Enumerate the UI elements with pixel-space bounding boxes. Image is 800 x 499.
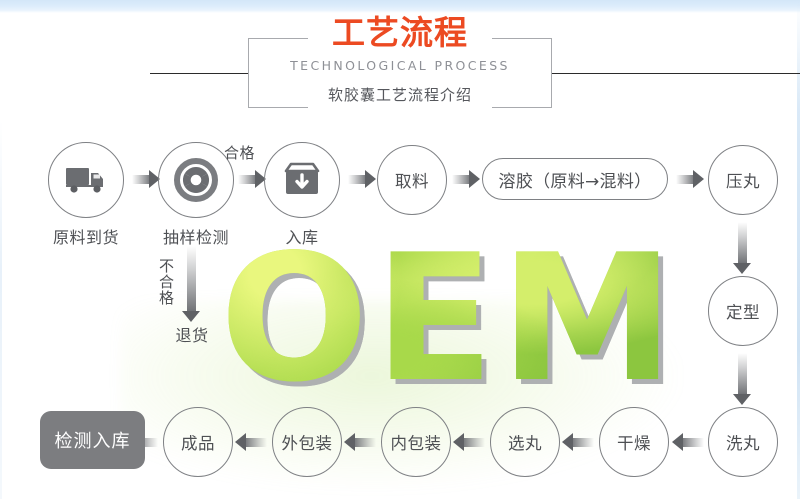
node-outer-packaging[interactable]: 外包装 bbox=[272, 407, 342, 477]
arrow-solgel-to-pressing bbox=[676, 170, 704, 189]
oem-watermark-text: OEM bbox=[220, 236, 680, 404]
label-pill-pressing: 压丸 bbox=[726, 168, 760, 192]
arrow-sampling-to-warehouse bbox=[238, 170, 266, 189]
arrow-outer-to-finished bbox=[235, 433, 267, 452]
oem-watermark: OEM bbox=[196, 236, 704, 404]
arrow-pressing-to-shaping bbox=[733, 222, 752, 274]
arrow-inner-to-outer-pack bbox=[344, 433, 376, 452]
arrow-arrival-to-sampling bbox=[132, 170, 160, 189]
node-warehouse-in[interactable] bbox=[264, 142, 340, 218]
caption-raw-material-arrival: 原料到货 bbox=[38, 224, 134, 248]
label-sol-gel: 溶胶（原料→混料） bbox=[499, 167, 652, 192]
arrow-sorting-to-inner-pack bbox=[453, 433, 485, 452]
caption-warehouse-in: 入库 bbox=[270, 224, 334, 248]
page-subtitle: 软胶囊工艺流程介绍 bbox=[248, 84, 552, 106]
arrow-warehouse-to-retrieval bbox=[348, 170, 376, 189]
label-material-retrieval: 取料 bbox=[395, 168, 429, 192]
node-pill-pressing[interactable]: 压丸 bbox=[708, 145, 778, 215]
header-text-block: 工艺流程 TECHNOLOGICAL PROCESS 软胶囊工艺流程介绍 bbox=[248, 14, 552, 112]
label-inspection-storage: 检测入库 bbox=[55, 427, 131, 453]
page-title-english: TECHNOLOGICAL PROCESS bbox=[248, 58, 552, 74]
node-drying[interactable]: 干燥 bbox=[599, 407, 669, 477]
arrow-drying-to-sorting bbox=[562, 433, 594, 452]
process-flow-infographic: 工艺流程 TECHNOLOGICAL PROCESS 软胶囊工艺流程介绍 OEM… bbox=[0, 0, 800, 499]
top-band-decoration bbox=[0, 0, 800, 13]
node-finished-product[interactable]: 成品 bbox=[163, 407, 233, 477]
label-pill-sorting: 选丸 bbox=[508, 430, 542, 454]
node-pill-washing[interactable]: 洗丸 bbox=[708, 407, 778, 477]
edge-label-fail: 不合格 bbox=[156, 258, 177, 306]
header: 工艺流程 TECHNOLOGICAL PROCESS 软胶囊工艺流程介绍 bbox=[0, 14, 800, 114]
label-shaping: 定型 bbox=[726, 299, 760, 323]
node-inner-packaging[interactable]: 内包装 bbox=[381, 407, 451, 477]
truck-icon bbox=[65, 165, 107, 195]
node-sol-gel[interactable]: 溶胶（原料→混料） bbox=[482, 158, 668, 200]
node-inspection-storage[interactable]: 检测入库 bbox=[40, 411, 145, 469]
label-pill-washing: 洗丸 bbox=[726, 430, 760, 454]
label-inner-packaging: 内包装 bbox=[391, 430, 442, 454]
arrow-sampling-to-return bbox=[182, 246, 201, 322]
node-return-goods[interactable]: 退货 bbox=[160, 322, 224, 346]
inbox-arrow-down-icon bbox=[282, 161, 322, 199]
arrow-shaping-to-washing bbox=[733, 353, 752, 405]
caption-sampling-inspection: 抽样检测 bbox=[148, 224, 244, 248]
arrow-retrieval-to-solgel bbox=[452, 170, 480, 189]
page-title: 工艺流程 bbox=[248, 14, 552, 52]
label-outer-packaging: 外包装 bbox=[282, 430, 333, 454]
arrow-washing-to-drying bbox=[672, 433, 704, 452]
label-finished-product: 成品 bbox=[181, 430, 215, 454]
header-rule-right bbox=[551, 73, 800, 74]
node-pill-sorting[interactable]: 选丸 bbox=[490, 407, 560, 477]
node-sampling-inspection[interactable] bbox=[158, 142, 234, 218]
left-edge-line bbox=[0, 120, 2, 499]
header-rule-left bbox=[150, 73, 249, 74]
inspection-icon bbox=[173, 157, 219, 203]
node-material-retrieval[interactable]: 取料 bbox=[377, 145, 447, 215]
node-raw-material-arrival[interactable] bbox=[48, 142, 124, 218]
edge-label-pass: 合格 bbox=[224, 142, 255, 163]
node-shaping[interactable]: 定型 bbox=[708, 276, 778, 346]
label-drying: 干燥 bbox=[617, 430, 651, 454]
